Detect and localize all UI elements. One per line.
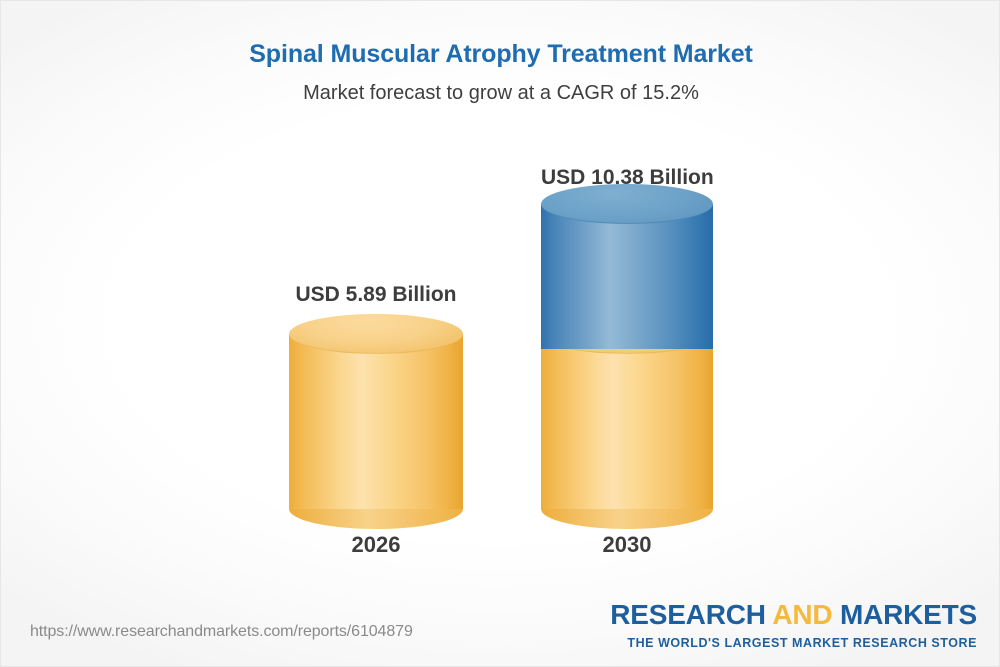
- logo-tagline: THE WORLD'S LARGEST MARKET RESEARCH STOR…: [610, 629, 977, 650]
- bar-cylinder-2030[interactable]: [541, 204, 713, 349]
- bar-value-label-2026: USD 5.89 Billion: [289, 283, 463, 307]
- bar-cylinder-top-2026: [289, 314, 463, 354]
- logo-word-and: AND: [772, 599, 832, 630]
- plot-area: USD 5.89 Billion 2026 USD 10.38 Billion: [1, 1, 1000, 667]
- bar-category-label-2026: 2026: [289, 532, 463, 558]
- research-and-markets-logo[interactable]: RESEARCH AND MARKETS THE WORLD'S LARGEST…: [610, 601, 977, 650]
- bar-cylinder-body-2030: [541, 204, 713, 349]
- bar-cylinder-2026[interactable]: [289, 334, 463, 509]
- bar-cylinder-base-segment-2030[interactable]: [541, 334, 713, 509]
- chart-canvas: Spinal Muscular Atrophy Treatment Market…: [0, 0, 1000, 667]
- bar-cylinder-top-2030: [541, 184, 713, 224]
- source-url[interactable]: https://www.researchandmarkets.com/repor…: [30, 623, 413, 641]
- bar-cylinder-base-body-2030: [541, 334, 713, 509]
- bar-cylinder-body-2026: [289, 334, 463, 509]
- logo-word-research: RESEARCH: [610, 599, 772, 630]
- bar-category-label-2030: 2030: [541, 532, 713, 558]
- logo-word-markets: MARKETS: [832, 599, 977, 630]
- logo-wordmark: RESEARCH AND MARKETS: [610, 601, 977, 629]
